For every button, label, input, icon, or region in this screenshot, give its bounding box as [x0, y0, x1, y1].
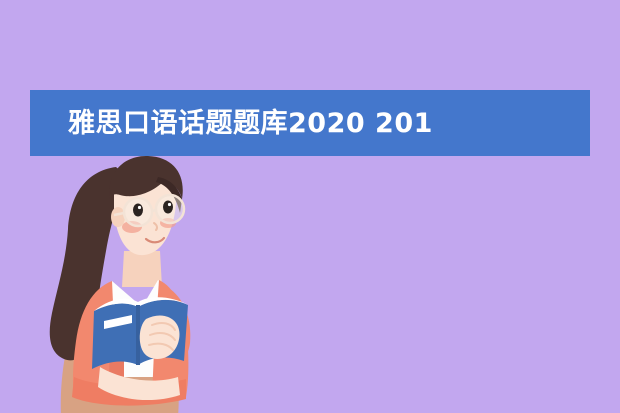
neck-shape [122, 251, 162, 287]
eye-highlight-right [168, 203, 171, 206]
title-banner: 雅思口语话题题库2020 201 [30, 90, 590, 156]
eye-highlight-left [138, 206, 141, 209]
book-spine-shadow [136, 305, 140, 365]
woman-reading-book-illustration [28, 155, 258, 413]
page-title: 雅思口语话题题库2020 201 [30, 110, 433, 137]
eye-right [163, 201, 173, 214]
glasses-bridge [152, 210, 156, 211]
book-left-cover [92, 304, 138, 369]
eye-left [133, 204, 143, 217]
image-canvas: 雅思口语话题题库2020 201 [0, 0, 620, 413]
